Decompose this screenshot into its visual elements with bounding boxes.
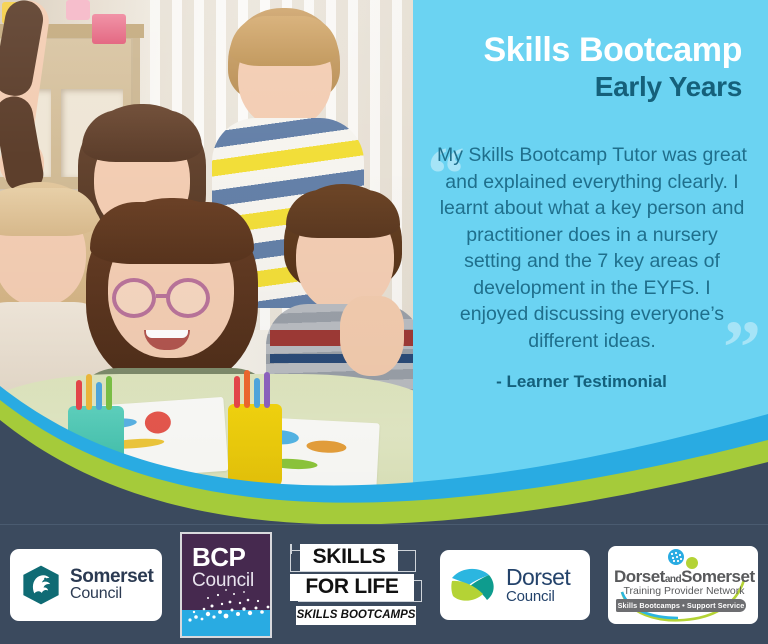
tpn-somerset: Somerset [681, 567, 754, 586]
tpn-ribbon: Skills Bootcamps • Support Service [616, 599, 746, 612]
testimonial-attribution: - Learner Testimonial [413, 372, 768, 392]
dorset-line2: Council [506, 589, 570, 604]
dorset-hills-icon [450, 563, 500, 607]
tpn-dorset: Dorset [614, 567, 665, 586]
logo-dorset-somerset-tpn[interactable]: DorsetandSomerset Training Provider Netw… [608, 546, 758, 624]
testimonial-quote: “ ” My Skills Bootcamp Tutor was great a… [429, 142, 755, 354]
logo-dorset-council[interactable]: Dorset Council [440, 550, 590, 620]
somerset-dragon-icon [20, 564, 62, 606]
tpn-and: and [665, 574, 681, 585]
testimonial-text: My Skills Bootcamp Tutor was great and e… [429, 142, 755, 354]
title-subtitle: Early Years [413, 70, 742, 103]
tpn-line1: DorsetandSomerset [614, 567, 754, 587]
somerset-line2: Council [70, 586, 153, 602]
bcp-dotted-cliff-icon [182, 576, 272, 626]
hero-photo [0, 0, 413, 524]
dorset-line1: Dorset [506, 566, 570, 589]
testimonial-panel: Skills Bootcamp Early Years “ ” My Skill… [413, 0, 768, 524]
hero-banner: Skills Bootcamp Early Years “ ” My Skill… [0, 0, 768, 524]
poster-canvas: Skills Bootcamp Early Years “ ” My Skill… [0, 0, 768, 644]
dorset-wordmark: Dorset Council [506, 566, 570, 604]
bcp-line1: BCP [192, 542, 245, 573]
title-main: Skills Bootcamp [413, 32, 742, 68]
poster-title: Skills Bootcamp Early Years [413, 32, 768, 103]
logo-bcp-council[interactable]: BCP Council [180, 532, 272, 638]
logo-skills-for-life[interactable]: SKILLS FOR LIFE SKILLS BOOTCAMPS [290, 544, 422, 626]
partner-logo-bar: Somerset Council BCP Council [0, 524, 768, 644]
sfl-line3: SKILLS BOOTCAMPS [296, 606, 416, 625]
somerset-line1: Somerset [70, 567, 153, 586]
sfl-line2: FOR LIFE [290, 574, 414, 601]
tpn-line2: Training Provider Network [614, 585, 754, 597]
logo-somerset-council[interactable]: Somerset Council [10, 549, 162, 621]
somerset-wordmark: Somerset Council [70, 567, 153, 603]
photo-overlay [0, 0, 413, 524]
sfl-line1: SKILLS [300, 544, 398, 571]
